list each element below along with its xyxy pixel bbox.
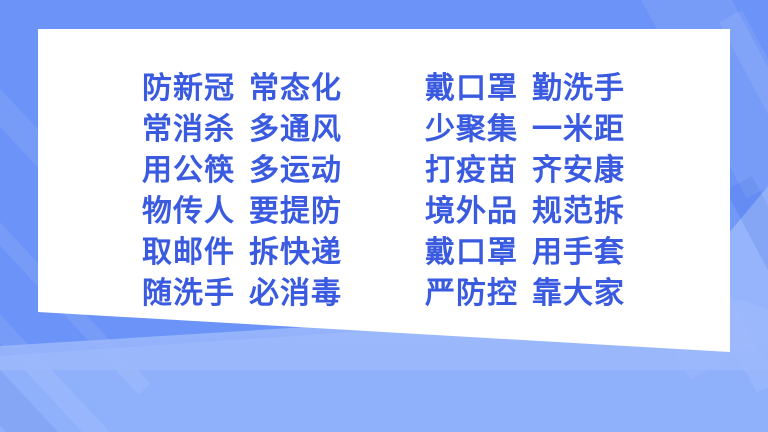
slogan-row: 常消杀 多通风 <box>142 109 425 150</box>
slogan-row: 境外品 规范拆 <box>425 191 708 232</box>
slogan-row: 戴口罩 用手套 <box>425 232 708 273</box>
slogan-phrase: 要提防 <box>249 197 342 227</box>
slogan-phrase: 常态化 <box>249 74 342 104</box>
slogan-row: 用公筷 多运动 <box>142 150 425 191</box>
slogan-phrase: 拆快递 <box>249 238 342 268</box>
slogan-phrase: 取邮件 <box>142 238 235 268</box>
slogan-phrase: 多通风 <box>249 115 342 145</box>
slogan-phrase: 常消杀 <box>142 115 235 145</box>
slogan-phrase: 物传人 <box>142 197 235 227</box>
slogan-phrase: 必消毒 <box>249 279 342 309</box>
slogan-phrase: 境外品 <box>425 197 518 227</box>
slogan-phrase: 防新冠 <box>142 74 235 104</box>
slogan-phrase: 随洗手 <box>142 279 235 309</box>
slogan-phrase: 多运动 <box>249 156 342 186</box>
slogan-row: 严防控 靠大家 <box>425 273 708 314</box>
slogan-row: 取邮件 拆快递 <box>142 232 425 273</box>
poster-canvas: 防新冠 常态化 戴口罩 勤洗手 常消杀 多通风 少聚集 一米距 用公筷 多运动 … <box>0 0 768 432</box>
slogan-phrase: 规范拆 <box>532 197 625 227</box>
slogan-phrase: 齐安康 <box>532 156 625 186</box>
slogan-phrase: 用手套 <box>532 238 625 268</box>
slogan-phrase: 勤洗手 <box>532 74 625 104</box>
slogan-row: 打疫苗 齐安康 <box>425 150 708 191</box>
slogan-phrase: 靠大家 <box>532 279 625 309</box>
slogan-phrase: 用公筷 <box>142 156 235 186</box>
slogan-phrase: 一米距 <box>532 115 625 145</box>
slogan-row: 少聚集 一米距 <box>425 109 708 150</box>
slogan-row: 戴口罩 勤洗手 <box>425 68 708 109</box>
slogan-row: 防新冠 常态化 <box>142 68 425 109</box>
slogan-phrase: 戴口罩 <box>425 74 518 104</box>
slogan-phrase: 严防控 <box>425 279 518 309</box>
slogan-phrase: 少聚集 <box>425 115 518 145</box>
slogan-phrase: 戴口罩 <box>425 238 518 268</box>
slogan-grid: 防新冠 常态化 戴口罩 勤洗手 常消杀 多通风 少聚集 一米距 用公筷 多运动 … <box>0 0 768 432</box>
slogan-row: 物传人 要提防 <box>142 191 425 232</box>
slogan-row: 随洗手 必消毒 <box>142 273 425 314</box>
slogan-phrase: 打疫苗 <box>425 156 518 186</box>
